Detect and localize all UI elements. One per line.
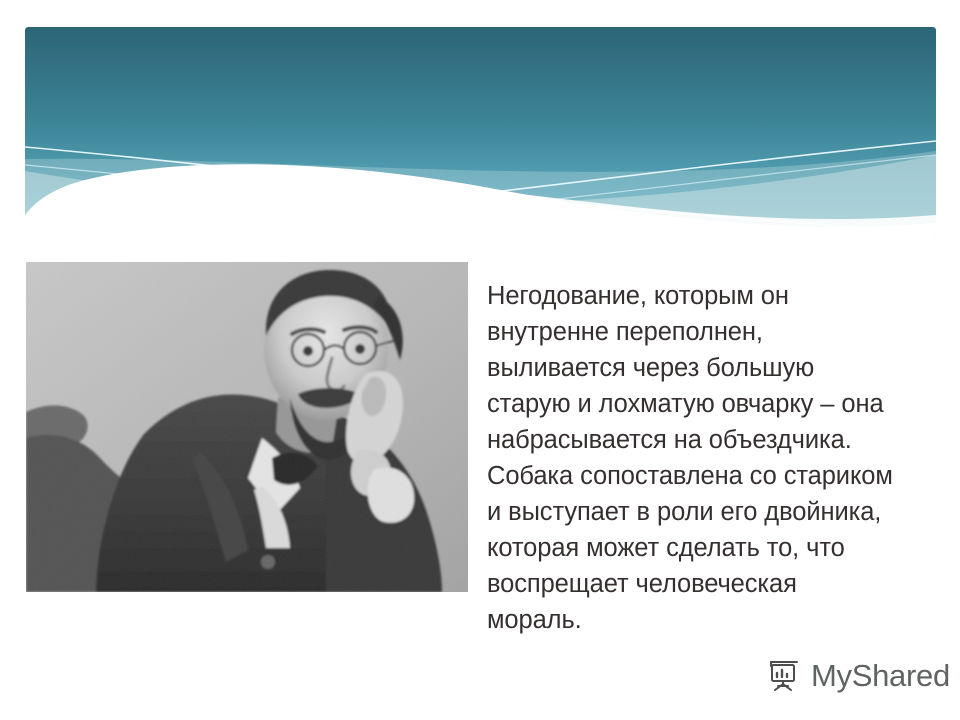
teal-wave-banner [25, 27, 936, 239]
myshared-watermark[interactable]: MyShared [766, 656, 950, 694]
chekhov-portrait-photo [26, 262, 468, 592]
presentation-board-icon [766, 656, 804, 694]
myshared-label: MyShared [811, 660, 950, 691]
banner-graphic [25, 27, 936, 239]
portrait-tone-overlay [26, 262, 468, 592]
presentation-slide: Негодование, которым он внутренне перепо… [0, 0, 960, 720]
slide-body-text: Негодование, которым он внутренне перепо… [487, 278, 897, 638]
presentation-board-glyph [766, 656, 804, 694]
portrait-image [26, 262, 468, 592]
